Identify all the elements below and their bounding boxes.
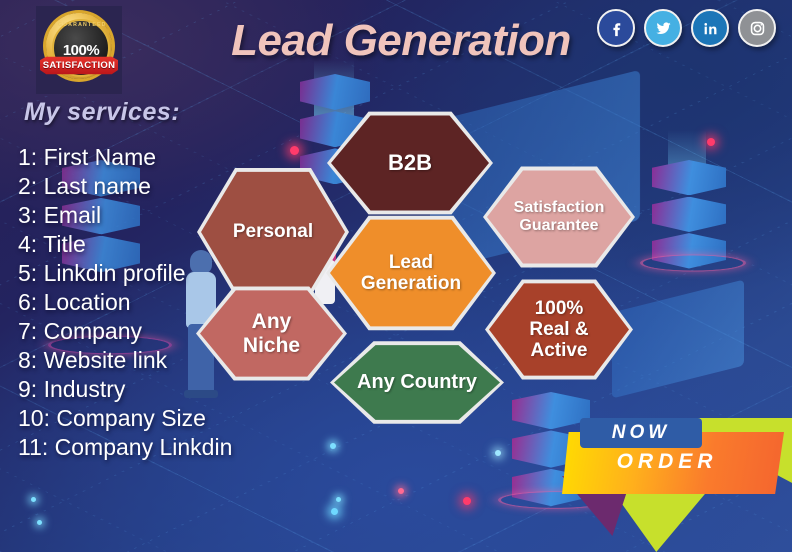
badge-ribbon: SATISFACTION bbox=[40, 56, 118, 75]
glow-dot bbox=[495, 450, 501, 456]
hexagon-lead-generation-label: Lead Generation bbox=[355, 252, 467, 295]
monitor-shape bbox=[612, 280, 744, 399]
hexagon-b2b-label: B2B bbox=[382, 151, 438, 176]
badge-ribbon-text: SATISFACTION bbox=[43, 60, 116, 71]
server-stack-right bbox=[652, 160, 726, 278]
order-now-banner[interactable]: NOW ORDER bbox=[562, 418, 792, 552]
glow-dot bbox=[707, 138, 715, 146]
server-glow-ring bbox=[640, 254, 746, 271]
hexagon-satisfaction-face: Satisfaction Guarantee bbox=[487, 169, 631, 265]
glow-dot bbox=[463, 497, 471, 505]
list-item: 11: Company Linkdin bbox=[18, 433, 308, 462]
glow-dot bbox=[330, 443, 336, 449]
lead-generation-banner: 100% GUARANTEED SATISFACTION Lead Genera… bbox=[0, 0, 792, 552]
hexagon-any-country-face: Any Country bbox=[334, 344, 500, 421]
twitter-icon[interactable] bbox=[644, 9, 682, 47]
hexagon-b2b-face: B2B bbox=[331, 114, 489, 212]
glow-dot bbox=[37, 520, 42, 525]
banner-now-tab: NOW bbox=[580, 418, 702, 448]
page-title: Lead Generation bbox=[186, 16, 616, 66]
hexagon-satisfaction-label: Satisfaction Guarantee bbox=[508, 199, 611, 235]
hexagon-any-niche-label: Any Niche bbox=[237, 310, 306, 357]
social-links bbox=[597, 9, 776, 47]
server-light-beam bbox=[314, 60, 354, 120]
glow-dot bbox=[331, 508, 338, 515]
hexagon-any-country[interactable]: Any Country bbox=[330, 340, 504, 425]
linkedin-icon[interactable] bbox=[691, 9, 729, 47]
server-light-beam bbox=[668, 130, 706, 190]
facebook-icon[interactable] bbox=[597, 9, 635, 47]
banner-order-label: ORDER bbox=[572, 450, 762, 474]
list-item: 1: First Name bbox=[18, 143, 308, 172]
satisfaction-badge: 100% GUARANTEED SATISFACTION bbox=[36, 6, 122, 94]
hexagon-real-active-face: 100% Real & Active bbox=[489, 282, 629, 377]
list-item: 10: Company Size bbox=[18, 404, 308, 433]
hexagon-real-active[interactable]: 100% Real & Active bbox=[485, 278, 633, 381]
hexagon-any-niche-face: Any Niche bbox=[200, 289, 343, 378]
glow-dot bbox=[336, 497, 341, 502]
hexagon-real-active-label: 100% Real & Active bbox=[523, 298, 594, 362]
glow-dot bbox=[31, 497, 36, 502]
glow-dot bbox=[398, 488, 404, 494]
badge-percent: 100% bbox=[63, 42, 99, 59]
hexagon-personal-label: Personal bbox=[227, 221, 319, 242]
hexagon-any-country-label: Any Country bbox=[351, 371, 483, 393]
services-heading: My services: bbox=[24, 98, 180, 127]
instagram-icon[interactable] bbox=[738, 9, 776, 47]
badge-guaranteed-text: GUARANTEED bbox=[58, 22, 100, 28]
banner-now-label: NOW bbox=[612, 422, 670, 444]
